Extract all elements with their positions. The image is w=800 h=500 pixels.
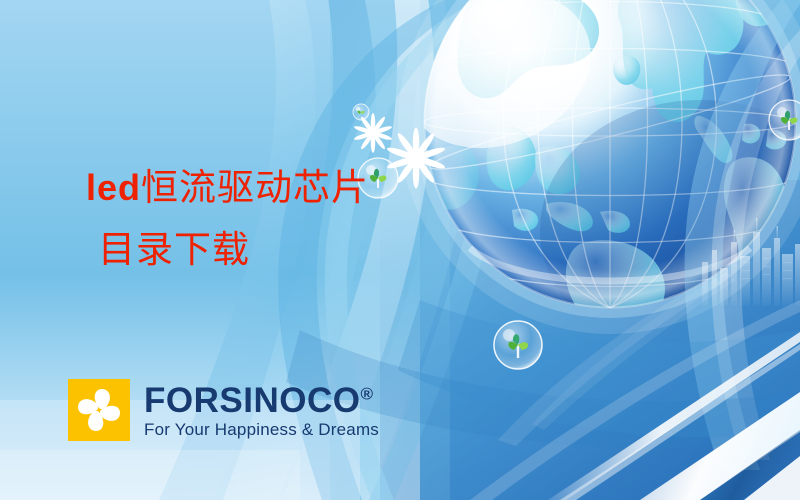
logo-text-block: FORSINOCO® For Your Happiness & Dreams [144,379,379,438]
logo-wordmark-text: FORSINOCO [144,381,360,420]
brand-logo: FORSINOCO® For Your Happiness & Dreams [68,379,379,441]
logo-tagline: For Your Happiness & Dreams [144,421,379,438]
pinwheel-flower-icon [68,379,130,441]
poster-canvas: led恒流驱动芯片 目录下载 FORSINOCO® For Your Happi… [0,0,800,500]
bubble-with-pinwheel [494,321,542,369]
logo-wordmark: FORSINOCO® [144,383,379,418]
registered-trademark-icon: ® [360,384,373,403]
bubble-with-pinwheel [358,158,398,198]
logo-mark [68,379,130,441]
bubble-with-pinwheel [353,104,369,120]
